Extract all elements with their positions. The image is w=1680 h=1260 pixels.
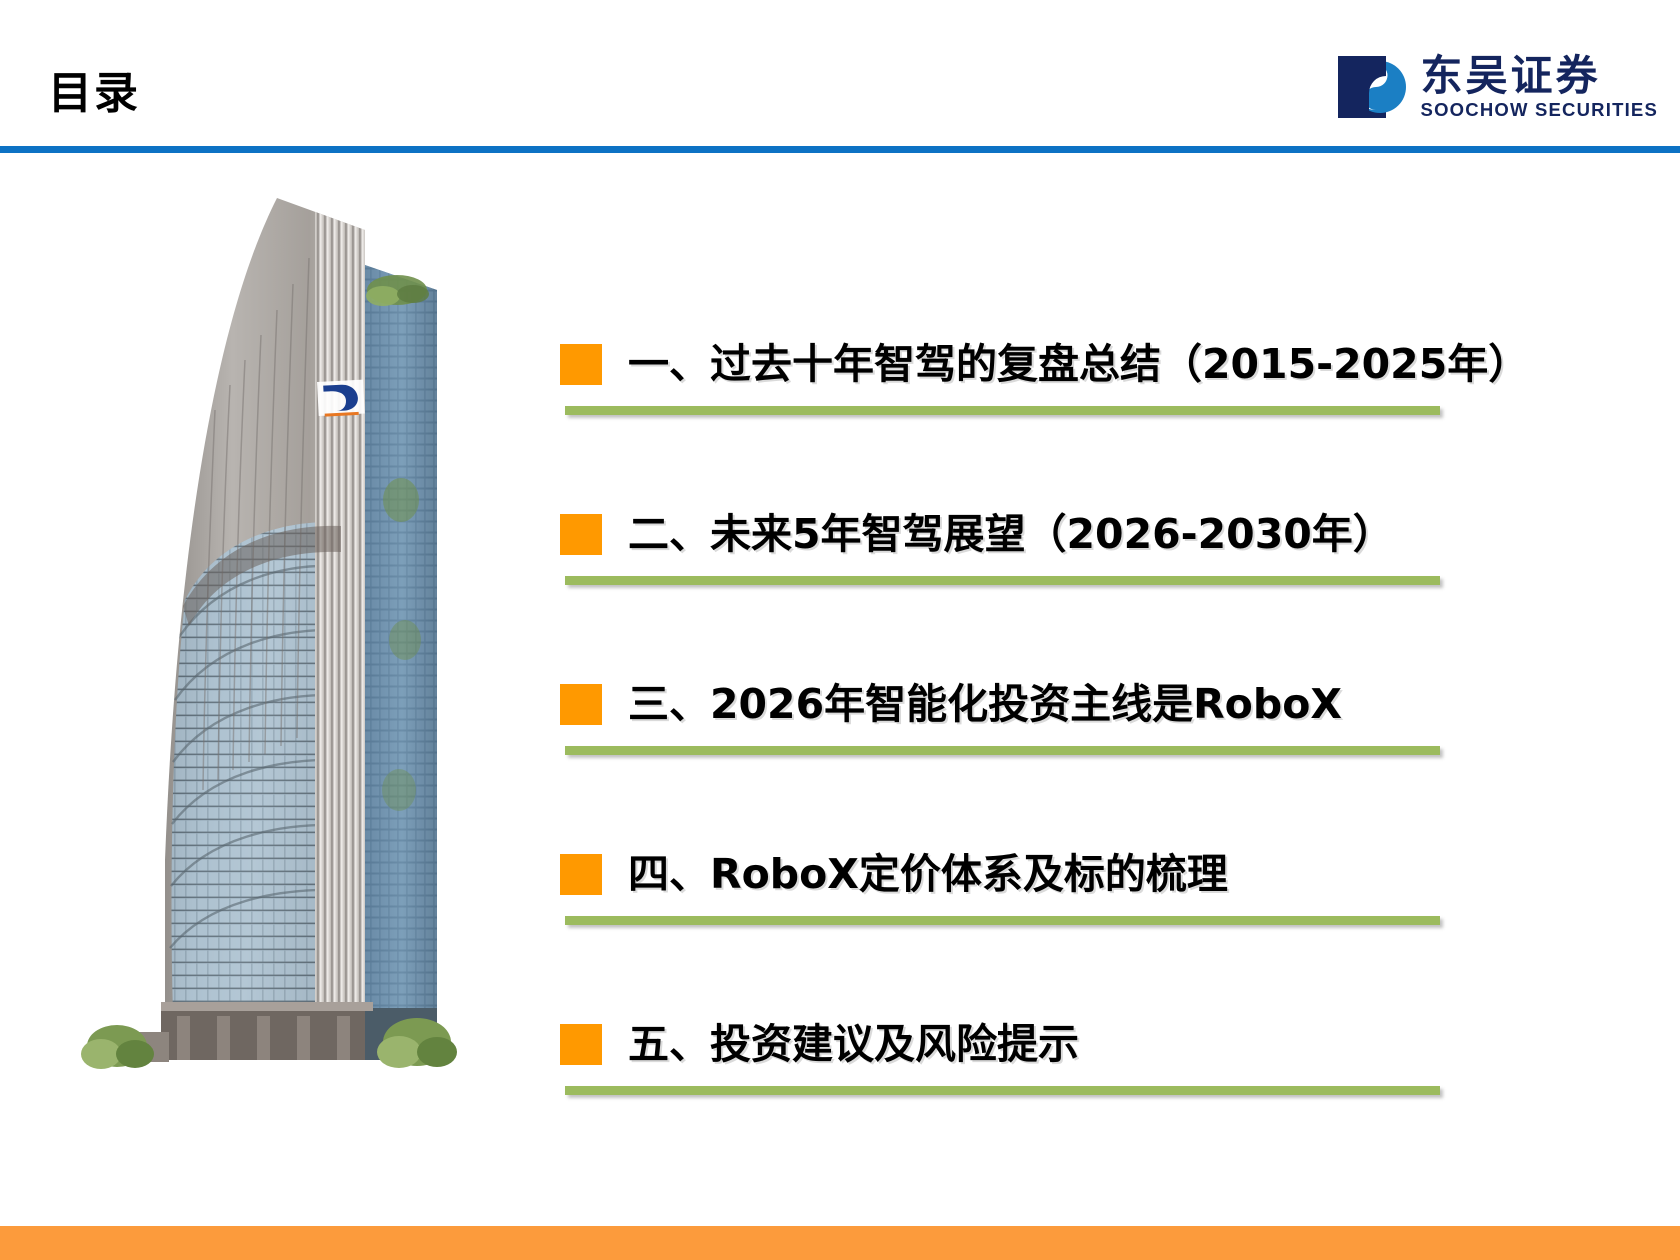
bullet-square-icon xyxy=(560,854,602,895)
bullet-square-icon xyxy=(560,684,602,725)
contents-item-5-divider xyxy=(565,1086,1440,1095)
contents-item-4[interactable]: 四、RoboX定价体系及标的梳理 xyxy=(560,755,1440,925)
logo-name-cn: 东吴证券 xyxy=(1421,54,1658,98)
contents-item-3-entry[interactable]: 三、2026年智能化投资主线是RoboX xyxy=(560,682,1342,727)
contents-item-2-entry[interactable]: 二、未来5年智驾展望（2026-2030年） xyxy=(560,512,1394,557)
footer-accent-bar xyxy=(0,1226,1680,1260)
logo-name-en: SOOCHOW SECURITIES xyxy=(1421,98,1658,122)
contents-item-1[interactable]: 一、过去十年智驾的复盘总结（2015-2025年） xyxy=(560,245,1440,415)
headquarters-building-photo xyxy=(65,170,495,1070)
soochow-swirl-mark-icon xyxy=(1336,52,1408,124)
contents-item-1-label: 一、过去十年智驾的复盘总结（2015-2025年） xyxy=(628,342,1529,387)
contents-item-2-label: 二、未来5年智驾展望（2026-2030年） xyxy=(628,512,1394,557)
bullet-square-icon xyxy=(560,344,602,385)
rooftop-logo-badge xyxy=(317,380,365,417)
contents-item-4-entry[interactable]: 四、RoboX定价体系及标的梳理 xyxy=(560,852,1228,897)
contents-item-2[interactable]: 二、未来5年智驾展望（2026-2030年） xyxy=(560,415,1440,585)
contents-item-5[interactable]: 五、投资建议及风险提示 xyxy=(560,925,1440,1095)
page-title: 目录 xyxy=(48,72,140,116)
header-divider-rule xyxy=(0,146,1680,153)
contents-item-3-divider xyxy=(565,746,1440,755)
bullet-square-icon xyxy=(560,1024,602,1065)
company-logo: 东吴证券 SOOCHOW SECURITIES xyxy=(1336,52,1658,124)
bullet-square-icon xyxy=(560,514,602,555)
slide-contents: 目录 东吴证券 SOOCHOW SECURITIES xyxy=(0,0,1680,1260)
contents-item-5-label: 五、投资建议及风险提示 xyxy=(628,1022,1079,1067)
contents-item-5-entry[interactable]: 五、投资建议及风险提示 xyxy=(560,1022,1079,1067)
contents-list: 一、过去十年智驾的复盘总结（2015-2025年） 二、未来5年智驾展望（202… xyxy=(560,245,1440,1095)
contents-item-2-divider xyxy=(565,576,1440,585)
contents-item-1-entry[interactable]: 一、过去十年智驾的复盘总结（2015-2025年） xyxy=(560,342,1529,387)
contents-item-4-divider xyxy=(565,916,1440,925)
contents-item-4-label: 四、RoboX定价体系及标的梳理 xyxy=(628,852,1228,897)
contents-item-3-label: 三、2026年智能化投资主线是RoboX xyxy=(628,682,1342,727)
contents-item-3[interactable]: 三、2026年智能化投资主线是RoboX xyxy=(560,585,1440,755)
logo-text: 东吴证券 SOOCHOW SECURITIES xyxy=(1421,54,1658,122)
contents-item-1-divider xyxy=(565,406,1440,415)
